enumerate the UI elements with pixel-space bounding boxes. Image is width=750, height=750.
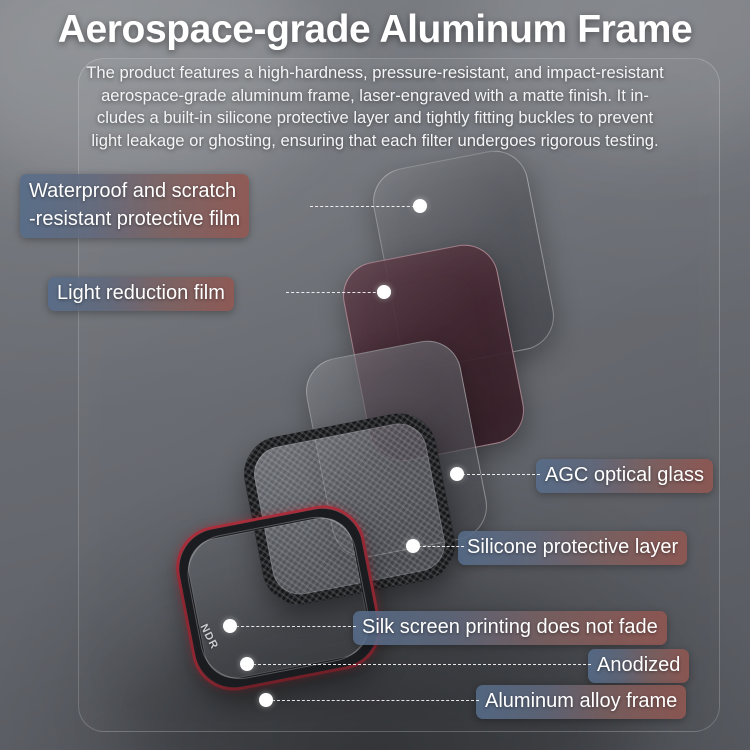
callout-aluminum-alloy-frame-dot [259, 693, 273, 707]
callout-waterproof-film-dot [413, 199, 427, 213]
description-line-4: light leakage or ghosting, ensuring that… [18, 130, 732, 153]
callout-agc-optical-glass-dot [450, 467, 464, 481]
page-title: Aerospace-grade Aluminum Frame [0, 8, 750, 52]
description-line-1: The product features a high-hardness, pr… [18, 62, 732, 85]
callout-agc-optical-glass-label: AGC optical glass [545, 464, 704, 486]
callout-anodized-leader [253, 664, 591, 665]
callout-silicone-protective-layer-label: Silicone protective layer [467, 536, 678, 558]
infographic-canvas: NDR Aerospace-grade Aluminum Frame The p… [0, 0, 750, 750]
callout-silk-screen-printing-label: Silk screen printing does not fade [362, 616, 658, 638]
callout-silk-screen-printing: Silk screen printing does not fade [353, 611, 667, 645]
callout-light-reduction-film-dot [377, 285, 391, 299]
callout-silicone-protective-layer: Silicone protective layer [458, 531, 687, 565]
callout-aluminum-alloy-frame-leader [272, 700, 479, 701]
description-line-2: aerospace-grade aluminum frame, laser-en… [18, 85, 732, 108]
callout-anodized: Anodized [588, 649, 689, 683]
callout-aluminum-alloy-frame-label: Aluminum alloy frame [485, 690, 677, 712]
callout-waterproof-film-line2: -resistant protective film [29, 205, 240, 233]
callout-anodized-dot [240, 657, 254, 671]
callout-waterproof-film: Waterproof and scratch -resistant protec… [20, 174, 249, 238]
description-line-3: cludes a built-in silicone protective la… [18, 107, 732, 130]
callout-light-reduction-film-label: Light reduction film [57, 282, 225, 304]
callout-agc-optical-glass: AGC optical glass [536, 459, 713, 493]
callout-light-reduction-film: Light reduction film [48, 277, 234, 311]
callout-silk-screen-printing-leader [236, 626, 356, 627]
callout-waterproof-film-leader [310, 206, 420, 207]
callout-waterproof-film-line1: Waterproof and scratch [29, 177, 240, 205]
layer-aluminum-alloy-frame: NDR [172, 502, 384, 694]
page-description: The product features a high-hardness, pr… [18, 62, 732, 152]
callout-aluminum-alloy-frame: Aluminum alloy frame [476, 685, 686, 719]
callout-silicone-protective-layer-dot [406, 539, 420, 553]
callout-silk-screen-printing-dot [223, 619, 237, 633]
callout-anodized-label: Anodized [597, 654, 680, 676]
callout-agc-optical-glass-leader [462, 474, 540, 475]
callout-silicone-protective-layer-leader [418, 546, 464, 547]
callout-light-reduction-film-leader [286, 292, 386, 293]
